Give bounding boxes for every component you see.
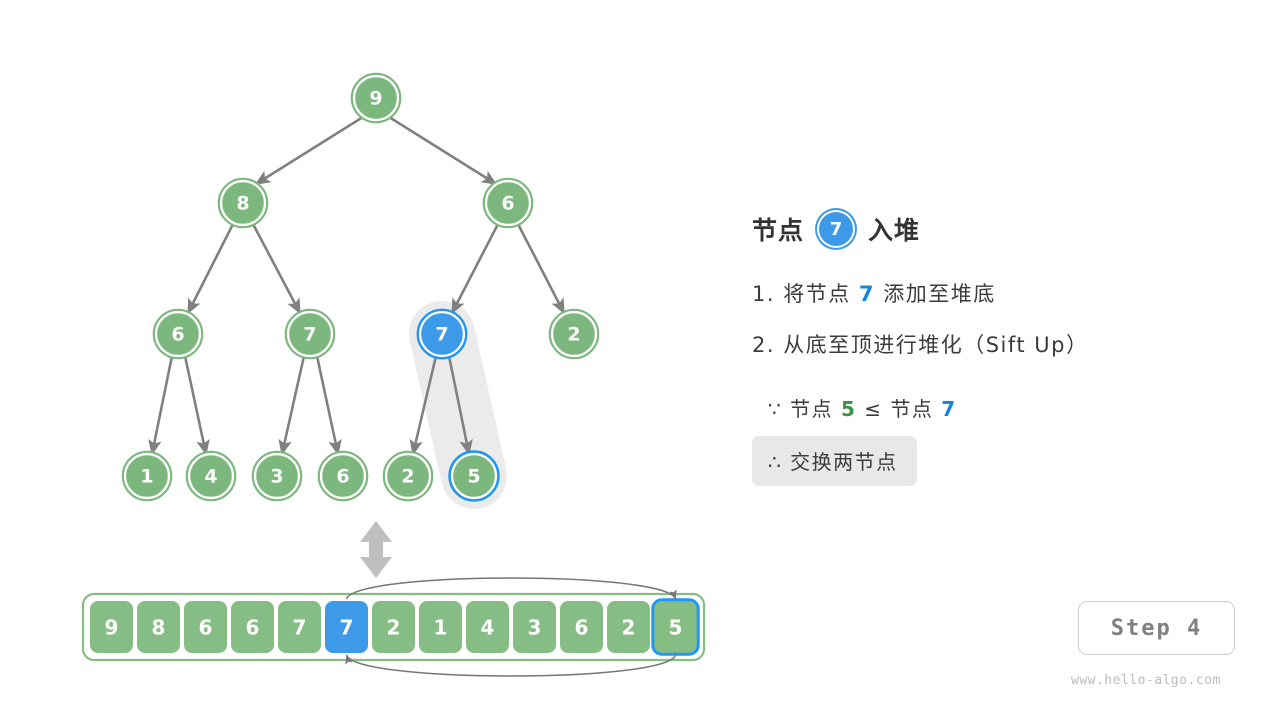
panel-step-1-suffix: 添加至堆底 xyxy=(883,282,996,306)
array-cell-5: 7 xyxy=(325,601,368,653)
array-cell-label: 5 xyxy=(669,616,683,640)
tree-node-label: 3 xyxy=(270,466,283,488)
therefore-symbol: ∴ xyxy=(768,450,782,474)
tree-node-label: 4 xyxy=(204,466,217,488)
array-cell-9: 3 xyxy=(513,601,556,653)
array-cell-label: 9 xyxy=(105,616,119,640)
edge-6-4 xyxy=(185,356,206,454)
tree-node-label: 1 xyxy=(140,466,153,488)
diagram-canvas: 9866772143625 9866772143625 节点 7 入堆 1. 将… xyxy=(0,0,1280,720)
edge-9-6 xyxy=(389,117,496,184)
edge-7-3 xyxy=(282,356,304,454)
panel-step-2: 2. 从底至顶进行堆化（Sift Up） xyxy=(752,329,1252,359)
array-cell-label: 6 xyxy=(575,616,589,640)
array-cell-label: 2 xyxy=(622,616,636,640)
array-cell-11: 2 xyxy=(607,601,650,653)
array-group: 9866772143625 xyxy=(83,594,704,660)
tree-node-label: 6 xyxy=(336,466,349,488)
array-cell-4: 7 xyxy=(278,601,321,653)
array-cell-label: 7 xyxy=(293,616,307,640)
tree-node-4: 4 xyxy=(187,452,235,500)
panel-step-1-prefix: 1. 将节点 xyxy=(752,282,851,306)
edge-6-2 xyxy=(518,224,564,313)
array-cell-label: 1 xyxy=(434,616,448,640)
watermark: www.hello-algo.com xyxy=(1071,673,1221,688)
array-cell-label: 6 xyxy=(246,616,260,640)
tree-array-link-arrow xyxy=(360,521,392,578)
array-cell-12: 5 xyxy=(653,600,698,654)
array-cell-0: 9 xyxy=(90,601,133,653)
array-cell-6: 2 xyxy=(372,601,415,653)
panel-title-badge: 7 xyxy=(817,210,855,248)
array-cell-label: 3 xyxy=(528,616,542,640)
tree-node-9: 9 xyxy=(352,74,400,122)
because-symbol: ∵ xyxy=(768,397,782,421)
edge-8-6 xyxy=(188,224,233,313)
tree-node-label: 7 xyxy=(435,324,448,346)
tree-node-6: 6 xyxy=(154,310,202,358)
tree-node-2: 2 xyxy=(384,452,432,500)
panel-reason: ∵ 节点 5 ≤ 节点 7 xyxy=(752,393,1252,422)
array-cell-label: 4 xyxy=(481,616,495,640)
explanation-panel: 节点 7 入堆 1. 将节点 7 添加至堆底 2. 从底至顶进行堆化（Sift … xyxy=(752,206,1252,486)
tree-node-7: 7 xyxy=(418,310,466,358)
tree-node-7: 7 xyxy=(286,310,334,358)
array-cell-label: 8 xyxy=(152,616,166,640)
array-cell-8: 4 xyxy=(466,601,509,653)
tree-node-label: 8 xyxy=(236,193,249,215)
array-cell-label: 6 xyxy=(199,616,213,640)
edge-6-1 xyxy=(152,356,172,454)
conclusion-text: 交换两节点 xyxy=(790,450,898,474)
tree-node-3: 3 xyxy=(253,452,301,500)
tree-node-label: 9 xyxy=(369,88,382,110)
panel-step-1: 1. 将节点 7 添加至堆底 xyxy=(752,278,1252,308)
array-cell-label: 7 xyxy=(340,616,354,640)
tree-edges xyxy=(152,117,564,454)
tree-nodes: 9866772143625 xyxy=(123,74,598,501)
tree-node-8: 8 xyxy=(219,179,267,227)
step-badge-label: Step 4 xyxy=(1111,616,1202,641)
tree-node-label: 5 xyxy=(467,466,480,488)
edge-8-7 xyxy=(253,224,300,313)
panel-step-2-prefix: 2. 从底至顶进行堆化（Sift Up） xyxy=(752,333,1089,357)
tree-node-6: 6 xyxy=(319,452,367,500)
reason-left-value: 5 xyxy=(841,397,856,421)
array-cell-1: 8 xyxy=(137,601,180,653)
tree-node-label: 6 xyxy=(501,193,514,215)
tree-node-label: 2 xyxy=(567,324,580,346)
panel-title: 节点 7 入堆 xyxy=(752,206,1252,252)
panel-title-prefix: 节点 xyxy=(752,211,804,247)
reason-right-value: 7 xyxy=(941,397,956,421)
panel-title-suffix: 入堆 xyxy=(868,211,920,247)
edge-9-8 xyxy=(256,117,363,184)
panel-step-1-value: 7 xyxy=(859,282,875,306)
reason-left-label: 节点 xyxy=(790,397,833,421)
edge-7-6b xyxy=(317,356,338,454)
reason-operator: ≤ xyxy=(864,397,882,421)
tree-node-label: 6 xyxy=(171,324,184,346)
edge-6-7b xyxy=(452,224,498,313)
step-badge: Step 4 xyxy=(1078,601,1235,655)
tree-node-label: 7 xyxy=(303,324,316,346)
panel-conclusion: ∴ 交换两节点 xyxy=(752,436,917,486)
array-cell-7: 1 xyxy=(419,601,462,653)
reason-right-label: 节点 xyxy=(890,397,933,421)
tree-node-1: 1 xyxy=(123,452,171,500)
array-cell-2: 6 xyxy=(184,601,227,653)
array-cell-label: 2 xyxy=(387,616,401,640)
tree-node-label: 2 xyxy=(401,466,414,488)
tree-node-6: 6 xyxy=(484,179,532,227)
tree-node-5: 5 xyxy=(450,452,499,501)
tree-node-2: 2 xyxy=(550,310,598,358)
array-cell-10: 6 xyxy=(560,601,603,653)
array-cell-3: 6 xyxy=(231,601,274,653)
watermark-text: www.hello-algo.com xyxy=(1071,673,1221,688)
